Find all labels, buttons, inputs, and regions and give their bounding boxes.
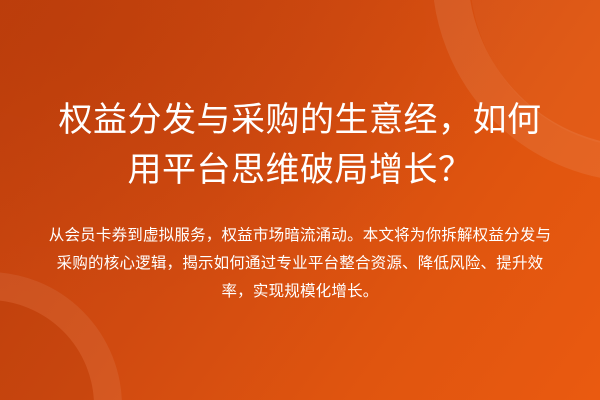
banner-subtitle-line-1: 从会员卡券到虚拟服务，权益市场暗流涌动。本文将为你拆解权	[49, 226, 489, 244]
banner-title-line-1: 权益分发与采购的生意经，如何	[44, 95, 556, 145]
article-cover-banner: 权益分发与采购的生意经，如何 用平台思维破局增长？ 从会员卡券到虚拟服务，权益市…	[0, 0, 600, 400]
banner-title-line-2: 用平台思维破局增长？	[44, 145, 556, 195]
banner-title: 权益分发与采购的生意经，如何 用平台思维破局增长？	[44, 95, 556, 195]
banner-content: 权益分发与采购的生意经，如何 用平台思维破局增长？ 从会员卡券到虚拟服务，权益市…	[44, 0, 556, 400]
banner-subtitle: 从会员卡券到虚拟服务，权益市场暗流涌动。本文将为你拆解权益分发与采购的核心逻辑，…	[44, 221, 556, 305]
